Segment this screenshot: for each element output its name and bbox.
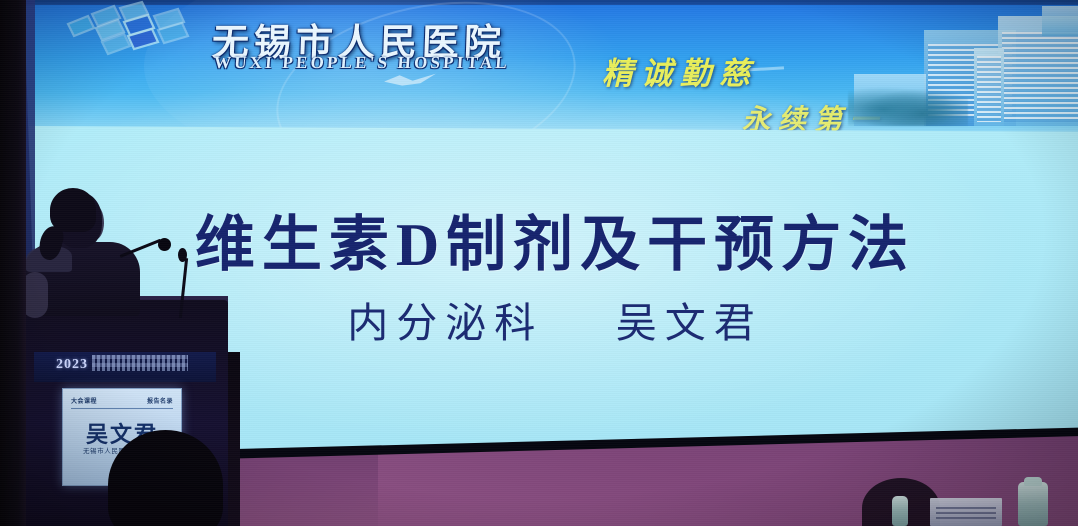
water-bottle xyxy=(1018,482,1048,526)
water-bottle-2 xyxy=(892,496,908,526)
left-pillar xyxy=(0,0,26,526)
slogan-line-1: 精诚勤慈 xyxy=(602,48,758,93)
name-card-divider xyxy=(71,408,173,409)
subtitle-department: 内分泌科 xyxy=(347,300,543,346)
speaker-hair xyxy=(50,188,96,232)
subtitle-speaker: 吴文君 xyxy=(616,300,763,346)
table-name-card xyxy=(930,498,1002,526)
hospital-name-en: WUXI PEOPLE'S HOSPITAL xyxy=(213,53,510,73)
hospital-building-photo xyxy=(846,4,1078,132)
water-bottle-cap xyxy=(1024,477,1042,486)
name-card-header-left: 大会课程 xyxy=(71,396,97,405)
podium-conference-title-blurred xyxy=(92,355,188,371)
table-name-card-text xyxy=(936,507,996,519)
slide-title: 维生素D制剂及干预方法 xyxy=(24,196,1078,283)
podium-year-label: 2023 xyxy=(56,357,88,373)
slide-banner: 无锡市人民医院 WUXI PEOPLE'S HOSPITAL 精诚勤慈 永续第一 xyxy=(24,0,1078,142)
microphone-icon-2 xyxy=(178,248,187,262)
foreground-trees xyxy=(848,84,968,126)
name-card-header-right: 报告名录 xyxy=(147,396,173,405)
hospital-cross-logo xyxy=(62,0,192,70)
microphone-icon xyxy=(158,238,171,251)
presentation-photo-scene: 无锡市人民医院 WUXI PEOPLE'S HOSPITAL 精诚勤慈 永续第一… xyxy=(0,0,1078,526)
name-card-header: 大会课程 报告名录 xyxy=(71,396,173,405)
